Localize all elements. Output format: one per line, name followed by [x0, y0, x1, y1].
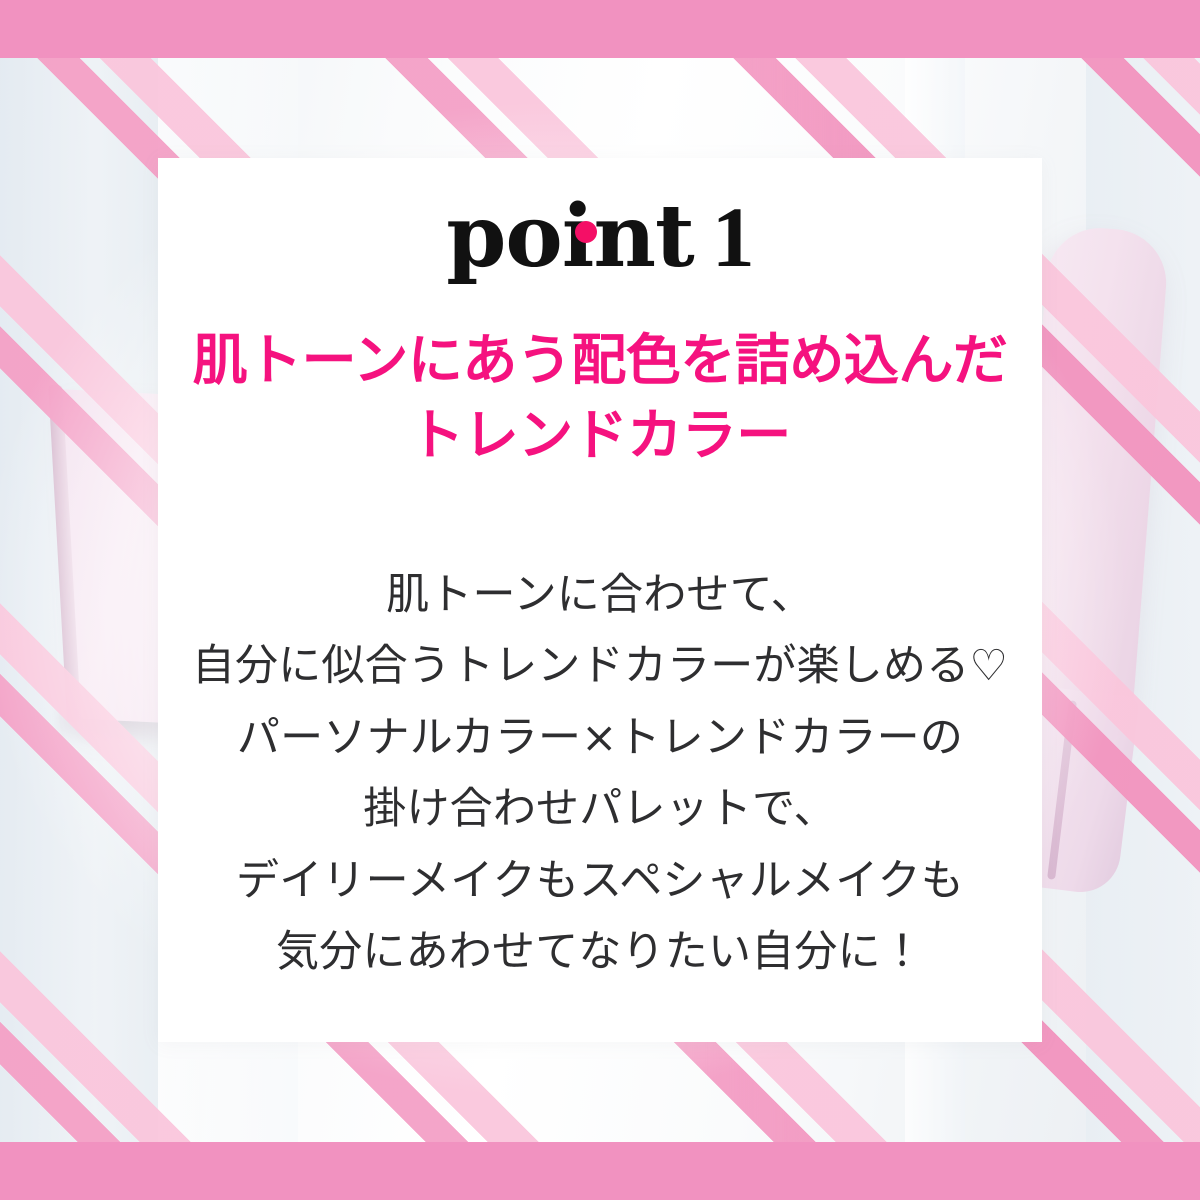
body-copy-line-2: 自分に似合うトレンドカラーが楽しめる♡ [172, 631, 1028, 702]
point-title-number: 1 [712, 189, 754, 285]
body-copy-line-3: パーソナルカラー×トレンドカラーの [172, 703, 1028, 774]
headline-line-1: 肌トーンにあう配色を詰め込んだ [178, 323, 1022, 398]
headline: 肌トーンにあう配色を詰め込んだ トレンドカラー [178, 323, 1022, 473]
poster-canvas: point1 肌トーンにあう配色を詰め込んだ トレンドカラー 肌トーンに合わせて… [0, 0, 1200, 1200]
point-i-dot-accent [575, 221, 597, 243]
white-content-card: point1 肌トーンにあう配色を詰め込んだ トレンドカラー 肌トーンに合わせて… [158, 158, 1042, 1042]
body-copy-line-5: デイリーメイクもスペシャルメイクも [172, 846, 1028, 917]
bottom-pink-frame-bar [0, 1142, 1200, 1200]
body-copy-line-6: 気分にあわせてなりたい自分に！ [172, 917, 1028, 988]
point-title-word: point [446, 186, 693, 287]
top-pink-frame-bar [0, 0, 1200, 58]
headline-line-2: トレンドカラー [178, 398, 1022, 473]
body-copy: 肌トーンに合わせて、 自分に似合うトレンドカラーが楽しめる♡ パーソナルカラー×… [172, 560, 1028, 988]
body-copy-line-1: 肌トーンに合わせて、 [172, 560, 1028, 631]
body-copy-line-4: 掛け合わせパレットで、 [172, 774, 1028, 845]
point-title: point1 [158, 194, 1042, 280]
